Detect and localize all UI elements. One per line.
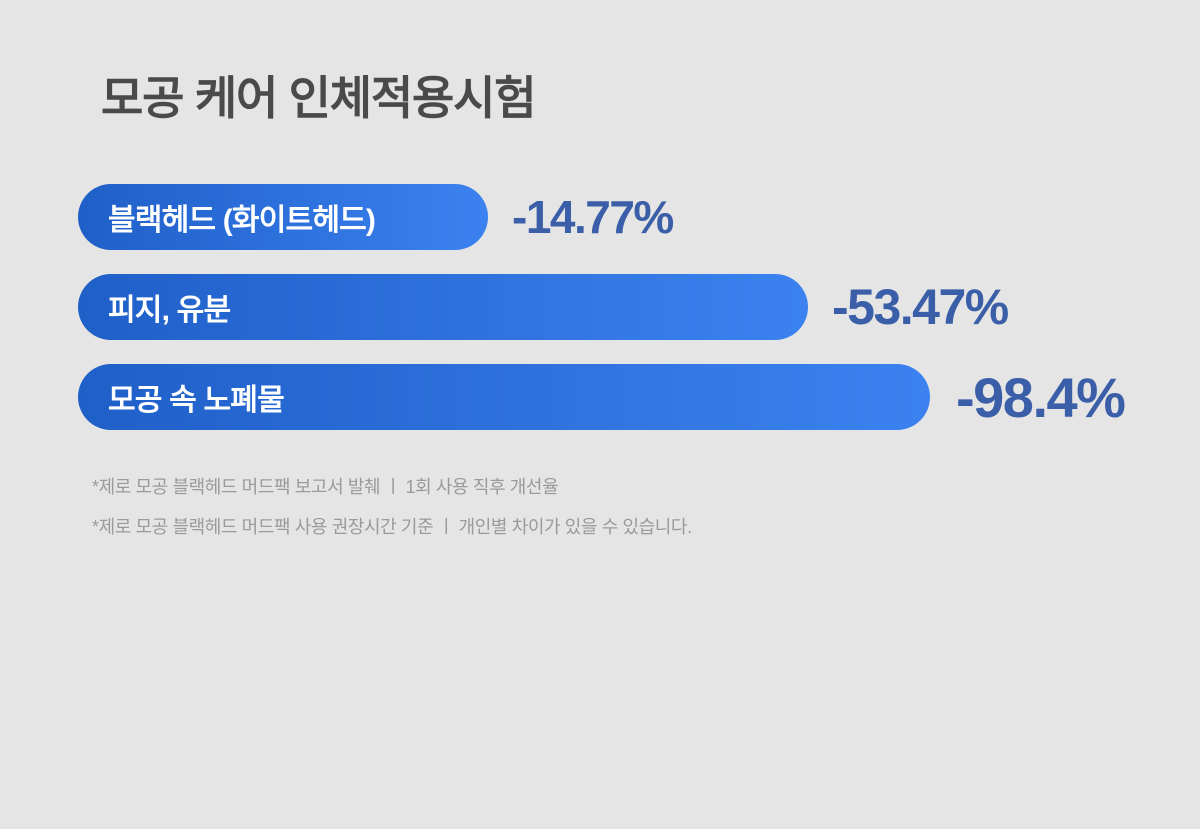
bar-value: -14.77% xyxy=(512,184,673,250)
bar-label: 모공 속 노폐물 xyxy=(108,375,284,419)
bar-row: 모공 속 노폐물 -98.4% xyxy=(0,358,1200,448)
footnote-line: *제로 모공 블랙헤드 머드팩 보고서 발췌 ㅣ 1회 사용 직후 개선율 xyxy=(92,478,692,498)
bar-track-blackhead: 블랙헤드 (화이트헤드) xyxy=(78,184,488,250)
bar-track-pore-waste: 모공 속 노폐물 xyxy=(78,364,930,430)
bar-label: 블랙헤드 (화이트헤드) xyxy=(108,195,375,239)
page-title: 모공 케어 인체적용시험 xyxy=(101,72,535,125)
pore-care-clinical-test-infographic: 모공 케어 인체적용시험 블랙헤드 (화이트헤드) -14.77% 피지, 유분… xyxy=(0,0,1200,829)
bar-chart: 블랙헤드 (화이트헤드) -14.77% 피지, 유분 -53.47% 모공 속… xyxy=(0,178,1200,448)
bar-row: 블랙헤드 (화이트헤드) -14.77% xyxy=(0,178,1200,268)
footnotes: *제로 모공 블랙헤드 머드팩 보고서 발췌 ㅣ 1회 사용 직후 개선율 *제… xyxy=(92,478,692,558)
bar-label: 피지, 유분 xyxy=(108,285,230,329)
bar-row: 피지, 유분 -53.47% xyxy=(0,268,1200,358)
bar-value: -53.47% xyxy=(832,274,1008,340)
bar-track-sebum: 피지, 유분 xyxy=(78,274,808,340)
bar-value: -98.4% xyxy=(956,364,1124,430)
footnote-line: *제로 모공 블랙헤드 머드팩 사용 권장시간 기준 ㅣ 개인별 차이가 있을 … xyxy=(92,518,692,538)
